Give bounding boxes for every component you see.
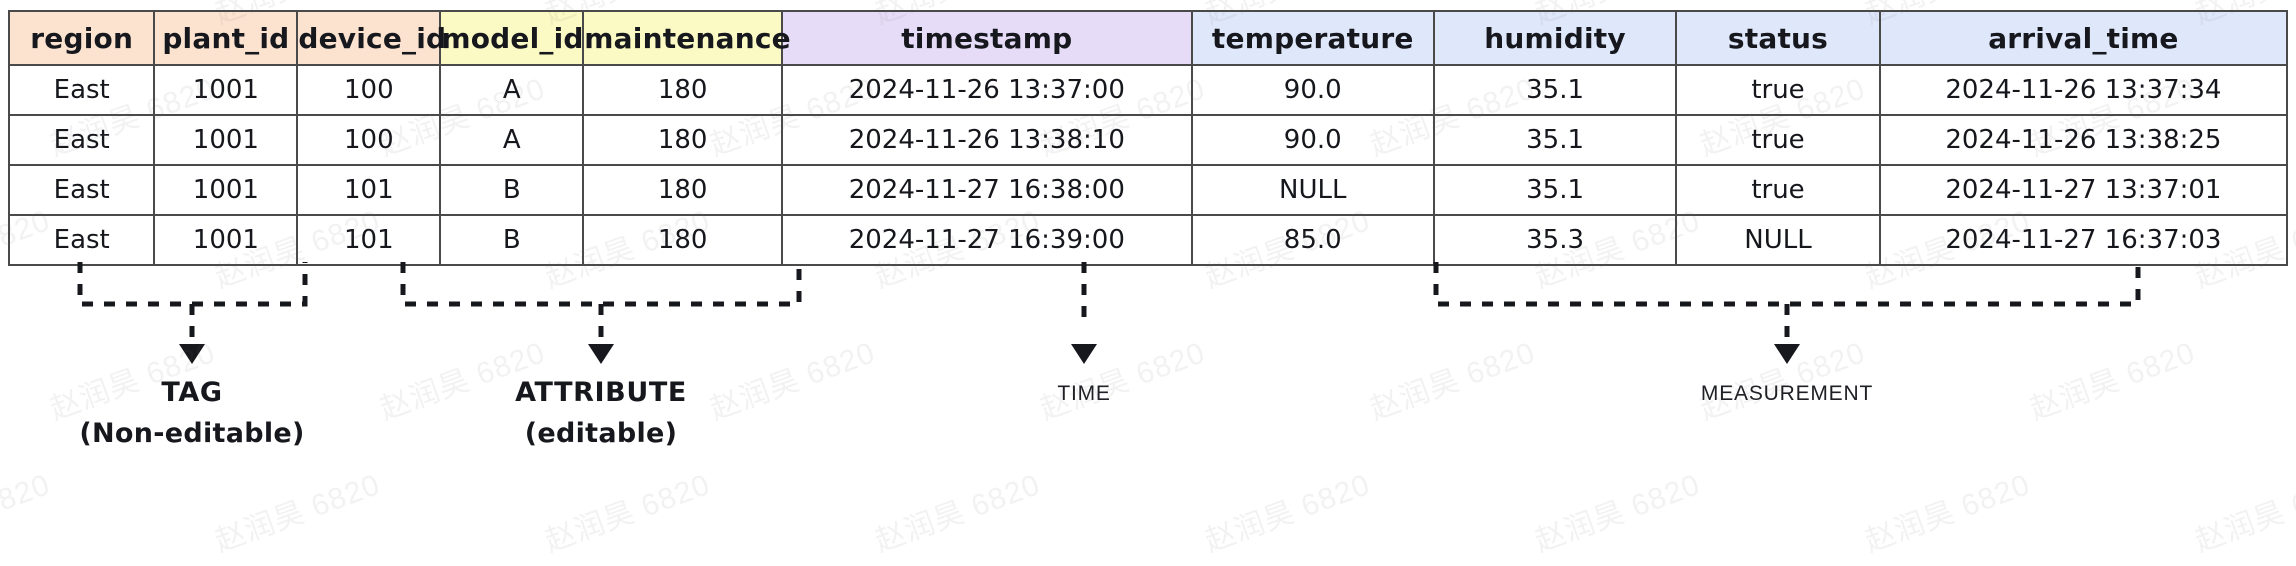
column-header-plant_id[interactable]: plant_id (154, 11, 297, 65)
cell-status: true (1676, 65, 1880, 115)
annotation-label-measurement: MEASUREMENT (1701, 382, 1873, 406)
cell-status: true (1676, 165, 1880, 215)
column-header-maintenance[interactable]: maintenance (583, 11, 782, 65)
cell-arrival_time: 2024-11-27 16:37:03 (1880, 215, 2287, 265)
cell-region: East (9, 215, 154, 265)
column-header-device_id[interactable]: device_id (297, 11, 440, 65)
cell-humidity: 35.1 (1434, 65, 1676, 115)
watermark-text: 赵润昊 6820 (0, 460, 55, 561)
column-header-temperature[interactable]: temperature (1192, 11, 1434, 65)
table-row: East1001101B1802024-11-27 16:38:00NULL35… (9, 165, 2287, 215)
cell-temperature: NULL (1192, 165, 1434, 215)
cell-timestamp: 2024-11-26 13:37:00 (782, 65, 1192, 115)
cell-model_id: A (440, 65, 583, 115)
measurement-bracket (1436, 262, 2138, 304)
cell-device_id: 101 (297, 165, 440, 215)
cell-temperature: 90.0 (1192, 65, 1434, 115)
annotation-label-attribute: ATTRIBUTE (editable) (515, 377, 687, 449)
tag-arrow-icon (179, 344, 205, 364)
cell-plant_id: 1001 (154, 115, 297, 165)
cell-maintenance: 180 (583, 65, 782, 115)
cell-region: East (9, 165, 154, 215)
cell-maintenance: 180 (583, 115, 782, 165)
watermark-text: 赵润昊 6820 (1693, 328, 1871, 429)
annotation-title-attribute: ATTRIBUTE (515, 377, 687, 408)
cell-model_id: B (440, 165, 583, 215)
annotation-subtitle-tag: (Non-editable) (79, 418, 304, 449)
column-header-status[interactable]: status (1676, 11, 1880, 65)
table-header-row: regionplant_iddevice_idmodel_idmaintenan… (9, 11, 2287, 65)
cell-temperature: 85.0 (1192, 215, 1434, 265)
cell-model_id: B (440, 215, 583, 265)
annotation-label-time: TIME (1057, 382, 1110, 406)
column-header-humidity[interactable]: humidity (1434, 11, 1676, 65)
table-row: East1001101B1802024-11-27 16:39:0085.035… (9, 215, 2287, 265)
annotation-title-time: TIME (1057, 382, 1110, 406)
schema-table: regionplant_iddevice_idmodel_idmaintenan… (8, 10, 2288, 266)
cell-humidity: 35.1 (1434, 115, 1676, 165)
cell-model_id: A (440, 115, 583, 165)
cell-region: East (9, 115, 154, 165)
table-row: East1001100A1802024-11-26 13:38:1090.035… (9, 115, 2287, 165)
cell-plant_id: 1001 (154, 215, 297, 265)
watermark-text: 赵润昊 6820 (1858, 460, 2036, 561)
watermark-text: 赵润昊 6820 (1528, 460, 1706, 561)
annotation-title-measurement: MEASUREMENT (1701, 382, 1873, 406)
attribute-arrow-icon (588, 344, 614, 364)
annotation-title-tag: TAG (79, 377, 304, 408)
watermark-text: 赵润昊 6820 (1033, 328, 1211, 429)
column-header-model_id[interactable]: model_id (440, 11, 583, 65)
table-body: East1001100A1802024-11-26 13:37:0090.035… (9, 65, 2287, 265)
watermark-text: 赵润昊 6820 (538, 460, 716, 561)
schema-table-container: regionplant_iddevice_idmodel_idmaintenan… (8, 10, 2288, 266)
cell-timestamp: 2024-11-27 16:39:00 (782, 215, 1192, 265)
cell-humidity: 35.3 (1434, 215, 1676, 265)
tag-bracket (80, 262, 305, 304)
cell-maintenance: 180 (583, 165, 782, 215)
cell-arrival_time: 2024-11-26 13:38:25 (1880, 115, 2287, 165)
cell-device_id: 100 (297, 115, 440, 165)
cell-region: East (9, 65, 154, 115)
cell-plant_id: 1001 (154, 165, 297, 215)
time-arrow-icon (1071, 344, 1097, 364)
measurement-arrow-icon (1774, 344, 1800, 364)
watermark-text: 赵润昊 6820 (1363, 328, 1541, 429)
annotation-label-tag: TAG (Non-editable) (79, 377, 304, 449)
attribute-bracket (403, 262, 799, 304)
cell-temperature: 90.0 (1192, 115, 1434, 165)
watermark-text: 赵润昊 6820 (868, 460, 1046, 561)
cell-device_id: 101 (297, 215, 440, 265)
column-header-region[interactable]: region (9, 11, 154, 65)
cell-status: true (1676, 115, 1880, 165)
watermark-text: 赵润昊 6820 (2188, 460, 2296, 561)
column-header-timestamp[interactable]: timestamp (782, 11, 1192, 65)
watermark-text: 赵润昊 6820 (2023, 328, 2201, 429)
cell-device_id: 100 (297, 65, 440, 115)
watermark-text: 赵润昊 6820 (208, 460, 386, 561)
cell-arrival_time: 2024-11-26 13:37:34 (1880, 65, 2287, 115)
table-row: East1001100A1802024-11-26 13:37:0090.035… (9, 65, 2287, 115)
cell-timestamp: 2024-11-27 16:38:00 (782, 165, 1192, 215)
cell-timestamp: 2024-11-26 13:38:10 (782, 115, 1192, 165)
arrowheads (179, 344, 1800, 364)
column-header-arrival_time[interactable]: arrival_time (1880, 11, 2287, 65)
cell-status: NULL (1676, 215, 1880, 265)
cell-humidity: 35.1 (1434, 165, 1676, 215)
annotation-subtitle-attribute: (editable) (515, 418, 687, 449)
cell-arrival_time: 2024-11-27 13:37:01 (1880, 165, 2287, 215)
watermark-text: 赵润昊 6820 (1198, 460, 1376, 561)
cell-plant_id: 1001 (154, 65, 297, 115)
watermark-text: 赵润昊 6820 (703, 328, 881, 429)
cell-maintenance: 180 (583, 215, 782, 265)
